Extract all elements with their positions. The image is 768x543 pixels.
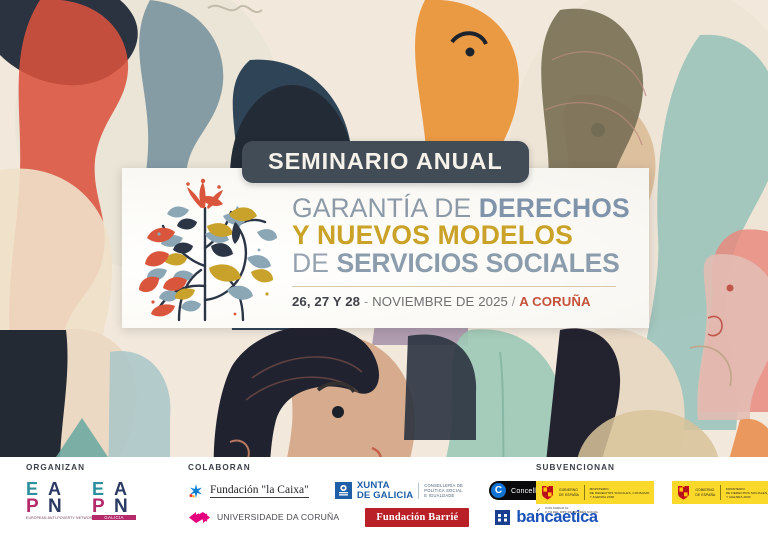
- logo-fundacion-la-caixa[interactable]: Fundación "la Caixa": [188, 483, 309, 499]
- title-line-3-light: DE: [292, 248, 336, 278]
- eapn-galicia-letter-n: N: [114, 498, 135, 515]
- title-divider-rule: [292, 286, 616, 287]
- footer-column-subvencionan: SUBVENCIONAN: [536, 463, 768, 521]
- gobierno-1-r3: Y AGENDA 2030: [590, 495, 650, 499]
- gobierno-2-yellow-bar: GOBIERNO DE ESPAÑA MINISTERIO DE DERECHO…: [672, 481, 768, 504]
- seminar-badge: SEMINARIO ANUAL: [242, 141, 529, 183]
- gobierno-2-left-text: GOBIERNO DE ESPAÑA: [695, 488, 715, 496]
- xunta-wordmark: XUNTA DE GALICIA: [357, 481, 413, 501]
- dateline-separator: -: [360, 294, 372, 309]
- gobierno-1-l1: GOBIERNO: [559, 488, 579, 492]
- title-card: GARANTÍA DE DERECHOS Y NUEVOS MODELOS DE…: [122, 168, 649, 328]
- organizan-heading: ORGANIZAN: [26, 463, 136, 472]
- eapn-tagline: EUROPEAN ANTI-POVERTY NETWORK: [26, 516, 70, 520]
- title-line-1-bold: DERECHOS: [479, 193, 630, 223]
- eapn-letter-p: P: [26, 498, 47, 515]
- tree-illustration: [138, 173, 286, 323]
- la-caixa-wordmark: Fundación "la Caixa": [210, 484, 309, 498]
- title-line-1: GARANTÍA DE DERECHOS: [292, 195, 635, 222]
- xunta-department: CONSELLERÍA DE POLÍTICA SOCIAL E IGUALDA…: [424, 483, 463, 498]
- gobierno-2-divider: [720, 485, 721, 500]
- concello-c-icon: C: [491, 483, 506, 498]
- gobierno-1-divider: [584, 485, 585, 500]
- logo-eapn-galicia[interactable]: E A P N GALICIA: [92, 481, 136, 520]
- gobierno-1-footnote: ✓ CON CARGO AL 0,7% DEL IRPF DE INTERÉS …: [536, 506, 654, 514]
- bancaetica-square-icon: [495, 510, 510, 525]
- dateline-slash: /: [508, 294, 519, 309]
- la-caixa-star-icon: [188, 483, 204, 499]
- title-line-1-light: GARANTÍA DE: [292, 193, 479, 223]
- plant-tree-icon: [139, 174, 285, 322]
- gobierno-2-right-text: MINISTERIO DE DERECHOS SOCIALES, CONSUMO…: [726, 487, 768, 499]
- spain-coat-of-arms-icon: [541, 485, 554, 500]
- gobierno-1-yellow-bar: GOBIERNO DE ESPAÑA MINISTERIO DE DERECHO…: [536, 481, 654, 504]
- title-text-block: GARANTÍA DE DERECHOS Y NUEVOS MODELOS DE…: [286, 187, 649, 309]
- footer-column-organizan: ORGANIZAN E A P N EUROPEAN ANTI-POVERTY …: [26, 463, 136, 527]
- dateline-month-year: NOVIEMBRE DE 2025: [372, 294, 508, 309]
- eapn-letter-a: A: [48, 481, 69, 497]
- gobierno-1-right-text: MINISTERIO DE DERECHOS SOCIALES, CONSUMO…: [590, 487, 650, 499]
- xunta-line-2: DE GALICIA: [357, 491, 413, 501]
- gobierno-2-r2: DE DERECHOS SOCIALES, CONSUMO: [726, 491, 768, 495]
- dateline-city: A CORUÑA: [519, 294, 590, 309]
- event-dateline: 26, 27 Y 28 - NOVIEMBRE DE 2025 / A CORU…: [292, 294, 635, 309]
- udc-mark-icon: [188, 511, 211, 524]
- eapn-galicia-letter-a: A: [114, 481, 135, 497]
- eapn-galicia-letter-e: E: [92, 481, 113, 497]
- title-line-3: DE SERVICIOS SOCIALES: [292, 250, 635, 277]
- gobierno-1-r2: DE DERECHOS SOCIALES, CONSUMO: [590, 491, 650, 495]
- logo-universidade-da-coruna[interactable]: UNIVERSIDADE DA CORUÑA: [188, 511, 339, 524]
- eapn-letter-grid: E A P N: [26, 481, 70, 515]
- gobierno-1-left-text: GOBIERNO DE ESPAÑA: [559, 488, 579, 496]
- xunta-divider: [418, 483, 419, 499]
- dateline-days: 26, 27 Y 28: [292, 294, 360, 309]
- eapn-galicia-letter-grid: E A P N: [92, 481, 136, 515]
- title-line-2: Y NUEVOS MODELOS: [292, 222, 635, 249]
- logo-gobierno-espana-1[interactable]: GOBIERNO DE ESPAÑA MINISTERIO DE DERECHO…: [536, 481, 654, 514]
- eapn-letter-n: N: [48, 498, 69, 515]
- title-line-3-bold: SERVICIOS SOCIALES: [336, 248, 619, 278]
- xunta-shield-icon: [335, 482, 352, 499]
- poster-root: GARANTÍA DE DERECHOS Y NUEVOS MODELOS DE…: [0, 0, 768, 543]
- gobierno-1-l2: DE ESPAÑA: [559, 493, 579, 497]
- logo-fundacion-barrie[interactable]: Fundación Barrié: [365, 508, 469, 527]
- subvencionan-logos: GOBIERNO DE ESPAÑA MINISTERIO DE DERECHO…: [536, 481, 768, 514]
- spain-coat-of-arms-icon-2: [677, 485, 690, 500]
- xunta-dept-line-3: E IGUALDADE: [424, 493, 463, 498]
- eapn-galicia-letter-p: P: [92, 498, 113, 515]
- udc-wordmark: UNIVERSIDADE DA CORUÑA: [217, 512, 339, 522]
- logo-eapn[interactable]: E A P N EUROPEAN ANTI-POVERTY NETWORK: [26, 481, 70, 520]
- gobierno-1-footnote-text: CON CARGO AL 0,7% DEL IRPF DE INTERÉS SO…: [545, 506, 598, 514]
- organizan-logos: E A P N EUROPEAN ANTI-POVERTY NETWORK E …: [26, 481, 136, 520]
- gobierno-1-foot-2: 0,7% DEL IRPF DE INTERÉS SOCIAL: [545, 510, 598, 514]
- subvencionan-heading: SUBVENCIONAN: [536, 463, 768, 472]
- gobierno-2-l1: GOBIERNO: [695, 488, 715, 492]
- logo-xunta-de-galicia[interactable]: XUNTA DE GALICIA CONSELLERÍA DE POLÍTICA…: [335, 481, 463, 501]
- sponsor-footer: ORGANIZAN E A P N EUROPEAN ANTI-POVERTY …: [0, 457, 768, 543]
- check-icon: ✓: [536, 507, 541, 514]
- gobierno-2-l2: DE ESPAÑA: [695, 493, 715, 497]
- gobierno-2-r3: Y AGENDA 2030: [726, 495, 768, 499]
- logo-gobierno-espana-2[interactable]: GOBIERNO DE ESPAÑA MINISTERIO DE DERECHO…: [672, 481, 768, 504]
- eapn-letter-e: E: [26, 481, 47, 497]
